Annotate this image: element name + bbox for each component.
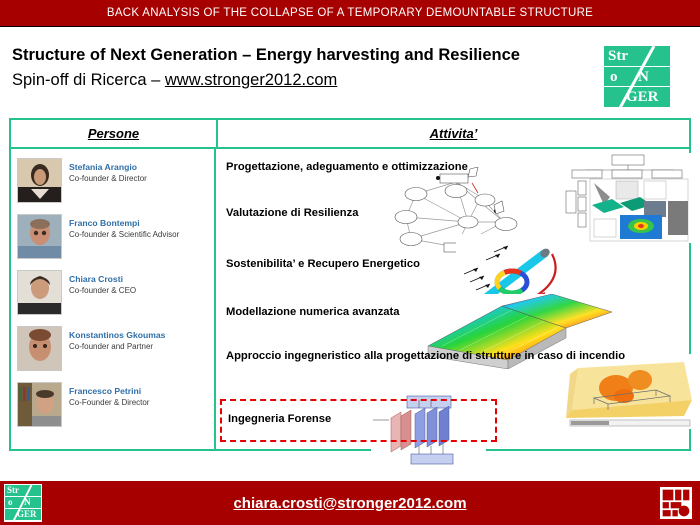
banner-title: BACK ANALYSIS OF THE COLLAPSE OF A TEMPO… [107, 7, 593, 19]
person-name: Stefania Arangio [69, 162, 147, 173]
avatar-photo-chiara-crosti [18, 271, 62, 315]
avatar [17, 270, 62, 315]
person-name: Francesco Petrini [69, 386, 149, 397]
logo-text-o: o [610, 70, 618, 85]
content-table: Persone Attivita’ Stefania Arangio C [9, 118, 691, 451]
list-item: Franco Bontempi Co-founder & Scientific … [17, 214, 214, 261]
person-name: Chiara Crosti [69, 274, 136, 285]
contact-email[interactable]: chiara.crosti@stronger2012.com [233, 495, 466, 512]
table-header-row: Persone Attivita’ [11, 120, 689, 149]
list-item: Chiara Crosti Co-founder & CEO [17, 270, 214, 317]
list-item: Francesco Petrini Co-Founder & Director [17, 382, 214, 429]
person-text: Konstantinos Gkoumas Co-founder and Part… [69, 326, 165, 352]
fire-simulation-figure [564, 354, 699, 429]
person-text: Franco Bontempi Co-founder & Scientific … [69, 214, 179, 240]
person-role: Co-founder & Director [69, 173, 147, 184]
subtitle-prefix: Spin-off di Ricerca – [12, 71, 165, 89]
avatar-photo-konstantinos-gkoumas [18, 327, 62, 371]
person-role: Co-founder & Scientific Advisor [69, 229, 179, 240]
university-seal-icon [658, 485, 694, 521]
logo-row-3: GER [604, 87, 670, 108]
column-header-people: Persone [11, 120, 218, 147]
people-column: Stefania Arangio Co-founder & Director [11, 149, 216, 451]
avatar-photo-stefania-arangio [18, 159, 62, 203]
activity-item: Modellazione numerica avanzata [226, 305, 399, 319]
column-header-activities: Attivita’ [218, 120, 689, 147]
activities-column: Progettazione, adeguamento e ottimizzazi… [216, 149, 689, 451]
logo-row-2: o N [5, 497, 41, 509]
stronger-logo: Str o N GER [604, 46, 670, 108]
avatar [17, 382, 62, 427]
list-item: Stefania Arangio Co-founder & Director [17, 158, 214, 205]
logo-row-1: Str [604, 46, 670, 67]
list-item: Konstantinos Gkoumas Co-founder and Part… [17, 326, 214, 373]
stronger-logo-footer: Str o N GER [4, 484, 42, 522]
avatar [17, 326, 62, 371]
logo-text-n: N [638, 70, 649, 85]
design-optimization-figure [564, 153, 692, 243]
activity-item: Approccio ingegneristico alla progettazi… [226, 349, 651, 363]
slide-title-line1: Structure of Next Generation – Energy ha… [12, 44, 602, 66]
logo-text-ger: GER [17, 510, 37, 519]
person-text: Stefania Arangio Co-founder & Director [69, 158, 147, 184]
person-role: Co-Founder & Director [69, 397, 149, 408]
logo-text-str: Str [608, 49, 628, 64]
person-name: Konstantinos Gkoumas [69, 330, 165, 341]
person-name: Franco Bontempi [69, 218, 179, 229]
logo-text-str: Str [7, 486, 19, 495]
activity-item: Progettazione, adeguamento e ottimizzazi… [226, 160, 468, 174]
avatar-photo-franco-bontempi [18, 215, 62, 259]
activity-item: Ingegneria Forense [228, 412, 331, 426]
activity-item: Sostenibilita’ e Recupero Energetico [226, 257, 420, 271]
logo-row-3: GER [5, 509, 41, 521]
footer-bar: chiara.crosti@stronger2012.com [0, 481, 700, 525]
person-role: Co-founder & CEO [69, 285, 136, 296]
logo-text-ger: GER [626, 90, 659, 105]
avatar [17, 158, 62, 203]
logo-text-n: N [24, 498, 31, 507]
person-role: Co-founder and Partner [69, 341, 165, 352]
slide-title-line2: Spin-off di Ricerca – www.stronger2012.c… [12, 69, 602, 91]
title-banner: BACK ANALYSIS OF THE COLLAPSE OF A TEMPO… [0, 0, 700, 27]
person-text: Francesco Petrini Co-Founder & Director [69, 382, 149, 408]
website-link[interactable]: www.stronger2012.com [165, 71, 337, 89]
table-body: Stefania Arangio Co-founder & Director [11, 149, 689, 451]
logo-row-1: Str [5, 485, 41, 497]
logo-row-2: o N [604, 67, 670, 88]
logo-text-o: o [8, 498, 13, 507]
avatar-photo-francesco-petrini [18, 383, 62, 427]
person-text: Chiara Crosti Co-founder & CEO [69, 270, 136, 296]
avatar [17, 214, 62, 259]
activity-item: Valutazione di Resilienza [226, 206, 358, 220]
slide-title-block: Structure of Next Generation – Energy ha… [12, 44, 602, 91]
